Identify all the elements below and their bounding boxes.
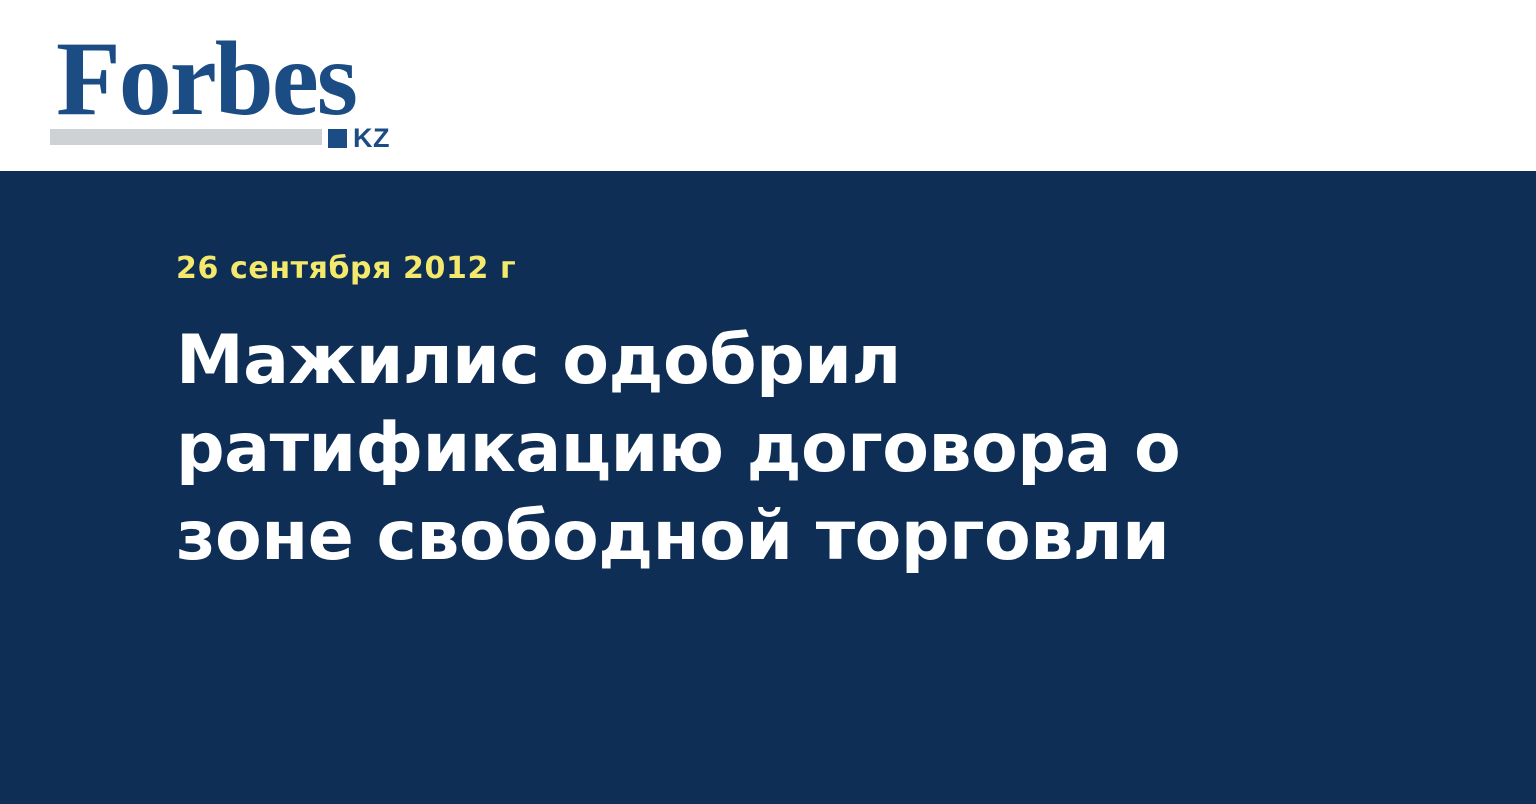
logo-tld-label: kz bbox=[353, 125, 390, 152]
forbes-kz-logo[interactable]: Forbes kz bbox=[50, 26, 410, 144]
forbes-wordmark: Forbes bbox=[56, 26, 356, 132]
logo-underline-bar bbox=[50, 129, 322, 145]
article-block: 26 сентября 2012 г Мажилис одобрил ратиф… bbox=[176, 171, 1376, 581]
site-header: Forbes kz bbox=[0, 0, 1536, 171]
article-card: Forbes kz 26 сентября 2012 г Мажилис одо… bbox=[0, 0, 1536, 804]
article-title[interactable]: Мажилис одобрил ратификацию договора о з… bbox=[176, 286, 1336, 581]
logo-square-icon bbox=[328, 129, 347, 148]
article-date: 26 сентября 2012 г bbox=[176, 252, 1376, 286]
